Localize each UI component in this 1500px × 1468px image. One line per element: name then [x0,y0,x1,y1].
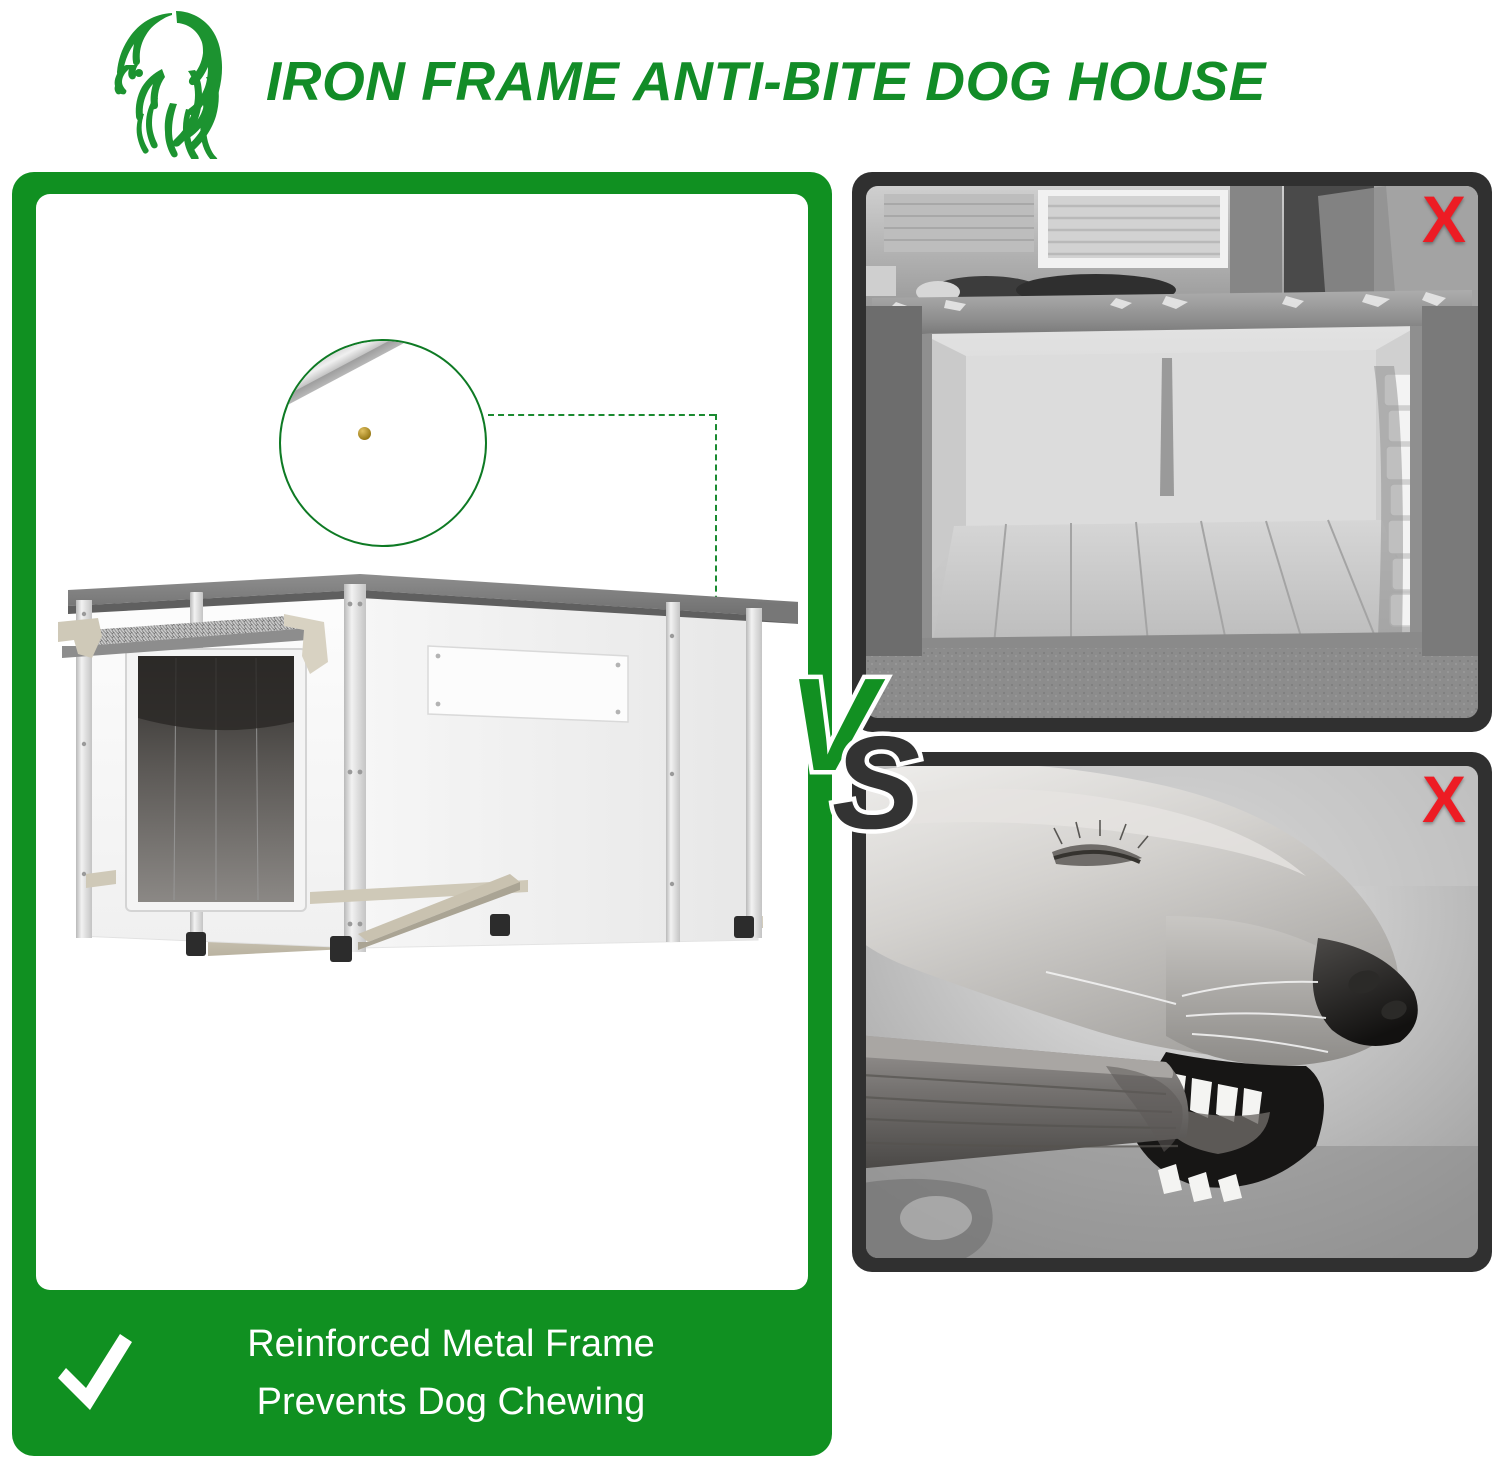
leader-line-horizontal [488,414,715,416]
metal-rail-edge [279,339,487,425]
red-x-icon: X [1422,766,1466,832]
good-caption-line-2: Prevents Dog Chewing [150,1374,752,1432]
screw-icon [358,427,371,440]
white-check-icon [52,1326,138,1422]
red-x-icon: X [1422,186,1466,252]
page-header: IRON FRAME ANTI-BITE DOG HOUSE [0,0,1500,168]
page-title: IRON FRAME ANTI-BITE DOG HOUSE [266,54,1266,115]
bad-product-panel: X [852,172,1500,1456]
chewed-dog-house-interior-photo: X [852,172,1492,732]
product-illustration-area [36,194,808,1290]
bad-product-caption: Wooden Frames Can Be Chewed And Are Not … [852,1292,1500,1456]
bad-caption-line-2: Chewed And Are Not Durable [934,1374,1417,1430]
infographic-page: IRON FRAME ANTI-BITE DOG HOUSE [0,0,1500,1468]
dog-biting-wood-photo: X [852,752,1492,1272]
dog-head-icon [108,9,248,159]
bad-caption-line-1: Wooden Frames Can Be [973,1319,1380,1375]
good-product-caption-text: Reinforced Metal Frame Prevents Dog Chew… [150,1316,832,1432]
good-product-caption: Reinforced Metal Frame Prevents Dog Chew… [12,1292,832,1456]
photo-image-top [866,186,1478,718]
magnifier-detail-circle [279,339,487,547]
good-caption-line-1: Reinforced Metal Frame [150,1316,752,1374]
good-product-panel [12,172,832,1456]
photo-image-bottom [866,766,1478,1258]
iron-frame-dog-house-illustration [58,544,798,1014]
